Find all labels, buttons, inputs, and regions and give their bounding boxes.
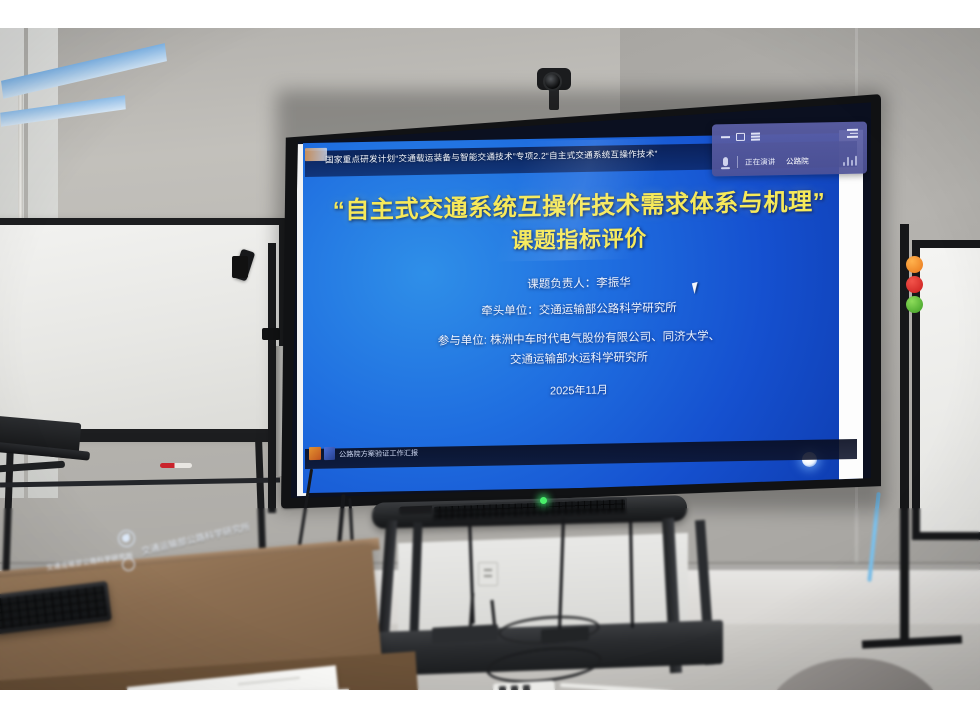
minimize-icon[interactable] (721, 136, 730, 138)
orange-magnet-icon (906, 256, 923, 273)
menu-icon[interactable] (847, 129, 858, 138)
power-indicator-led (540, 497, 547, 504)
window-icon[interactable] (324, 447, 335, 460)
display-screen[interactable]: 国家重点研发计划“交通载运装备与智能交通技术”专项2.2“自主式交通系统互操作技… (291, 100, 871, 498)
taskbar-item-label[interactable]: 公路院方案验证工作汇报 (339, 448, 418, 459)
list-view-icon[interactable] (751, 133, 760, 141)
audio-wave-icon[interactable] (843, 154, 859, 166)
whiteboard-sensor-box (232, 256, 248, 278)
microphone-base (721, 167, 730, 169)
room-photo: 国家重点研发计划“交通载运装备与智能交通技术”专项2.2“自主式交通系统互操作技… (0, 28, 980, 690)
microphone-icon[interactable] (723, 157, 728, 166)
camera-lens-icon (543, 72, 562, 91)
restore-window-icon[interactable] (736, 133, 745, 141)
toolbar-window-controls[interactable] (721, 133, 760, 142)
speaker-name-label: 公路院 (786, 156, 809, 167)
red-marker-icon (160, 463, 192, 468)
speaking-status-label: 正在演讲 (745, 156, 775, 168)
presentation-icon[interactable] (309, 447, 321, 460)
red-magnet-icon (906, 276, 923, 293)
meeting-floating-toolbar[interactable]: 正在演讲 公路院 (712, 122, 867, 177)
display-stand-post (268, 243, 276, 513)
green-magnet-icon (906, 296, 923, 313)
program-logo-badge (305, 148, 327, 161)
wall-outlet (478, 562, 498, 586)
desk-keyboard-keys[interactable] (0, 585, 107, 629)
powerpoint-slide[interactable]: 国家重点研发计划“交通载运装备与智能交通技术”专项2.2“自主式交通系统互操作技… (291, 100, 871, 498)
screenshot-root: 国家重点研发计划“交通载运装备与智能交通技术”专项2.2“自主式交通系统互操作技… (0, 0, 980, 720)
toolbar-divider (737, 156, 738, 168)
